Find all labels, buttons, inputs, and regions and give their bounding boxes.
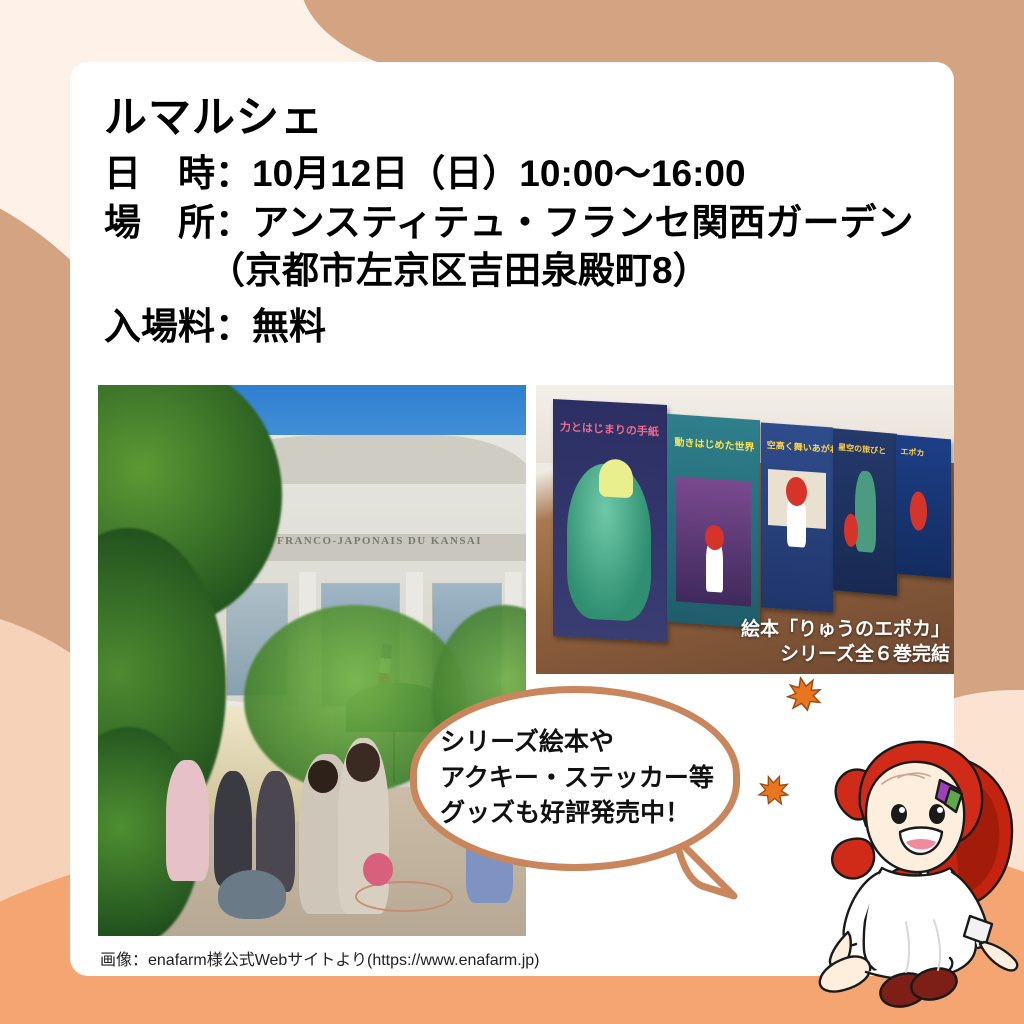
book-art — [854, 471, 876, 554]
book-cover: 星空の旅びと — [833, 428, 897, 595]
photo-books-caption: 絵本「りゅうのエポカ」 シリーズ全６巻完結 — [741, 617, 950, 668]
book-title: 動きはじめた世界 — [675, 433, 755, 454]
photo-venue-person — [214, 771, 253, 887]
photo-books: 力とはじまりの手紙 動きはじめた世界 空高く舞いあがれ 星空の旅びと — [536, 385, 954, 674]
book-girl-hair — [911, 491, 928, 531]
book-cover: 動きはじめた世界 — [667, 414, 760, 629]
photo-venue-person — [166, 760, 209, 881]
image-credit: 画像：enafarm様公式Webサイトより(https://www.enafar… — [100, 946, 540, 970]
page-title: ルマルシェ — [104, 92, 924, 146]
photo-venue-person-hair — [346, 743, 380, 782]
book-title: 力とはじまりの手紙 — [560, 419, 659, 440]
photo-books-caption-line1: 絵本「りゅうのエポカ」 — [741, 617, 950, 643]
photo-venue-person-hair — [308, 760, 338, 793]
speech-bubble-text: シリーズ絵本や アクキー・ステッカー等 グッズも好評発売中！ — [440, 725, 714, 832]
photo-books-caption-line2: シリーズ全６巻完結 — [741, 642, 950, 668]
poster-canvas: ルマルシェ 日 時：10月12日（日）10:00〜16:00 場 所：アンスティ… — [0, 0, 1024, 1024]
event-date-line: 日 時：10月12日（日）10:00〜16:00 — [104, 150, 924, 199]
book-dragon-head — [599, 459, 633, 499]
girl-character-illustration — [800, 722, 1024, 1010]
event-place-line: 場 所：アンスティテュ・フランセ関西ガーデン — [104, 199, 924, 248]
speech-bubble: シリーズ絵本や アクキー・ステッカー等 グッズも好評発売中！ — [410, 686, 740, 871]
book-girl-hair — [844, 514, 858, 548]
book-cover: 力とはじまりの手紙 — [553, 399, 667, 642]
photo-venue-bicycle — [218, 870, 286, 920]
book-title: 星空の旅びと — [838, 442, 886, 457]
book-cover: エポカ — [896, 435, 951, 579]
event-fee-line: 入場料：無料 — [104, 303, 924, 352]
event-address-line: （京都市左京区吉田泉殿町8） — [104, 247, 924, 296]
photo-venue: INSTITUT FRANCO-JAPONAIS DU KANSAI — [98, 385, 526, 936]
book-cover: 空高く舞いあがれ — [761, 423, 833, 613]
event-info-block: ルマルシェ 日 時：10月12日（日）10:00〜16:00 場 所：アンスティ… — [104, 92, 924, 352]
maple-leaf-icon — [783, 673, 826, 716]
book-title: エポカ — [901, 446, 925, 459]
book-title: 空高く舞いあがれ — [766, 438, 838, 456]
